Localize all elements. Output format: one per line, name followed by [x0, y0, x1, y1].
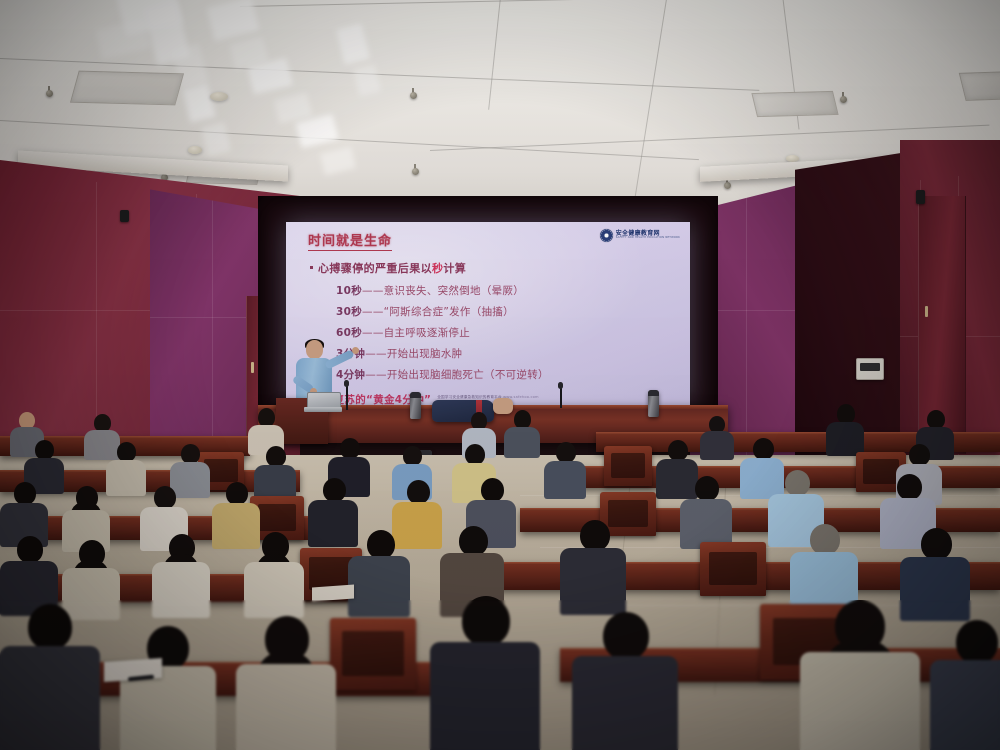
audience-member [700, 416, 734, 458]
microphone-stand [346, 386, 348, 410]
shield-emblem-icon [600, 229, 613, 242]
smoke-detector-icon [210, 92, 228, 101]
audience-member [504, 410, 540, 456]
smoke-detector-icon [188, 146, 202, 154]
sprinkler-icon [724, 182, 731, 189]
ceiling-vent [959, 71, 1000, 101]
audience-member [0, 482, 48, 544]
slide-title: 时间就是生命 [308, 230, 392, 251]
audience-member [560, 520, 626, 612]
audience-member [62, 486, 110, 548]
wall-control-panel[interactable] [856, 358, 884, 380]
bullet-dot-icon [310, 266, 313, 269]
microphone-stand [560, 388, 562, 408]
presenter-head [306, 340, 323, 359]
photo-scene: 时间就是生命 安全健康教育网 SAFETY AND HEALTH EDUCATI… [0, 0, 1000, 750]
microphone-icon [558, 382, 563, 389]
wall-speaker-icon [120, 210, 129, 222]
microphone-icon [344, 380, 349, 387]
audience-member-foreground [572, 612, 678, 750]
audience-member-foreground [800, 600, 920, 750]
audience-member [254, 446, 296, 498]
slide-logo-text: 安全健康教育网 SAFETY AND HEALTH EDUCATION NETW… [616, 231, 680, 240]
audience-member [544, 442, 586, 496]
chair-foreground [330, 618, 416, 690]
slide-line: 10秒——意识丧失、突然倒地（晕厥） [336, 283, 678, 298]
laptop[interactable] [304, 392, 342, 414]
audience-member [0, 536, 58, 612]
audience-member-foreground [0, 604, 100, 750]
audience-member-foreground [930, 620, 1000, 750]
slide-line: 3分钟——开始出现脑水肿 [336, 346, 678, 361]
slide-line: 60秒——自主呼吸逐渐停止 [336, 325, 678, 340]
ceiling-vent [70, 71, 184, 106]
chair [604, 446, 652, 486]
ceiling-vent [751, 91, 838, 117]
audience-member-foreground [430, 596, 540, 750]
presenter-hand [352, 347, 359, 354]
wall-speaker-icon [916, 190, 925, 204]
slide-logo: 安全健康教育网 SAFETY AND HEALTH EDUCATION NETW… [600, 229, 680, 242]
slide-bullet: 心搏骤停的严重后果以秒计算 [310, 260, 678, 276]
audience-member-foreground [236, 616, 336, 750]
thermos [648, 390, 659, 417]
notebook [312, 585, 354, 602]
sprinkler-icon [410, 92, 417, 99]
sprinkler-icon [840, 96, 847, 103]
thermos [410, 392, 421, 419]
slide-line: 30秒——“阿斯综合症”发作（抽搐） [336, 304, 678, 319]
audience-member [680, 476, 732, 546]
sprinkler-icon [412, 168, 419, 175]
sprinkler-icon [46, 90, 53, 97]
audience-member [348, 530, 410, 614]
chair [700, 542, 766, 596]
slide-line: 4分钟——开始出现脑细胞死亡（不可逆转） [336, 367, 678, 382]
audience-member-foreground [120, 626, 216, 750]
audience-member [152, 534, 210, 614]
laptop-keyboard [304, 407, 342, 412]
slide-body: 心搏骤停的严重后果以秒计算 10秒——意识丧失、突然倒地（晕厥） 30秒——“阿… [310, 260, 678, 405]
audience-member [244, 532, 304, 614]
audience-member [826, 404, 864, 454]
